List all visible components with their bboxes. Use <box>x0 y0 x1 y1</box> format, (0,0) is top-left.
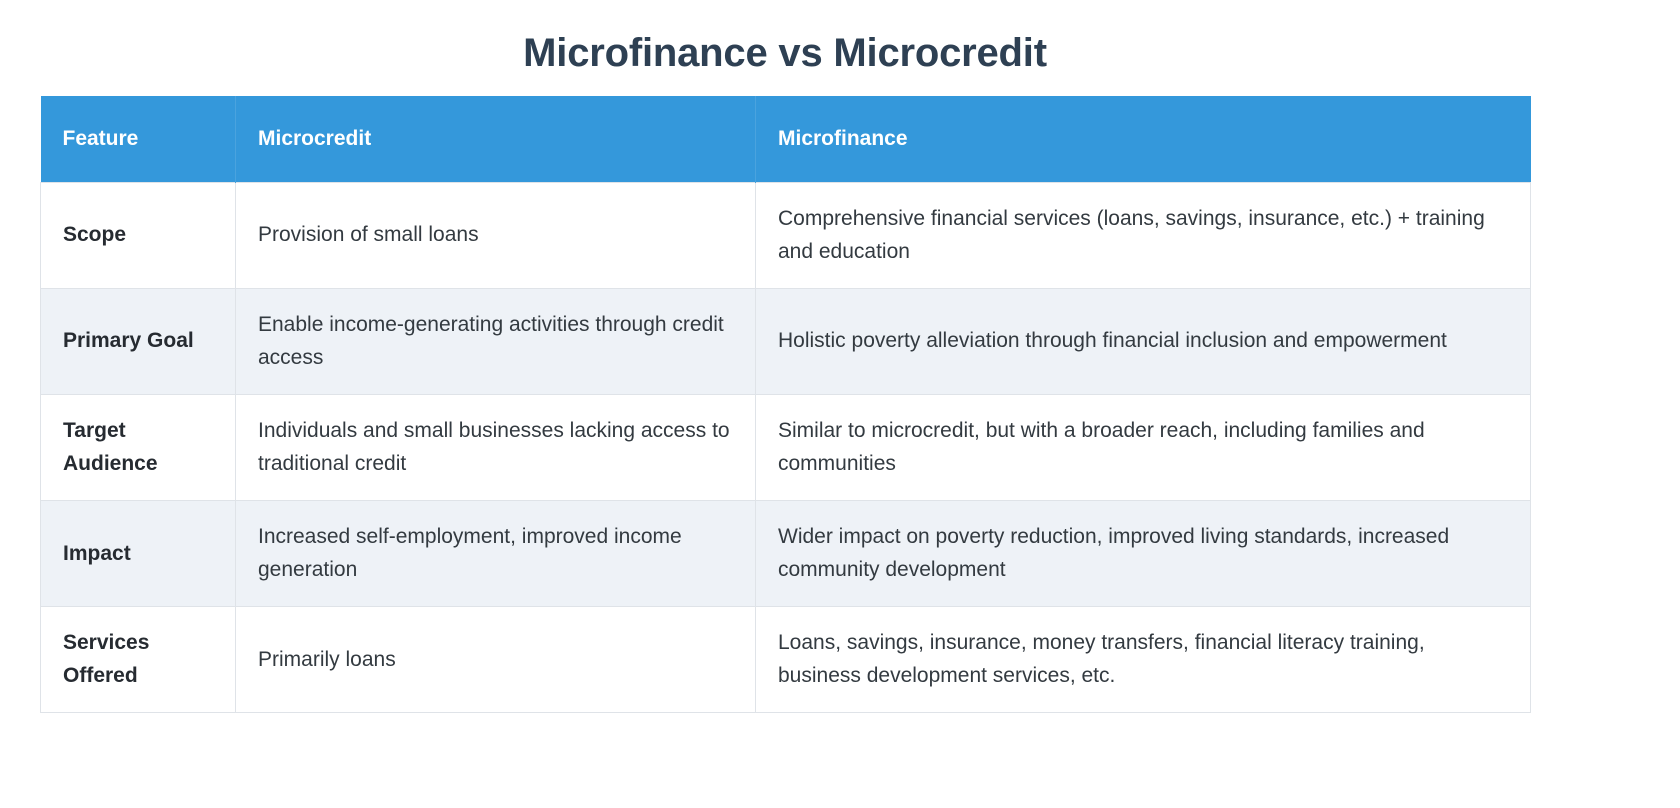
page-title: Microfinance vs Microcredit <box>0 0 1570 78</box>
page-root: Microfinance vs Microcredit Feature Micr… <box>0 0 1680 808</box>
table-row: Target Audience Individuals and small bu… <box>41 395 1531 501</box>
cell-microfinance: Similar to microcredit, but with a broad… <box>756 395 1531 501</box>
cell-microfinance: Comprehensive financial services (loans,… <box>756 183 1531 289</box>
cell-microcredit: Increased self-employment, improved inco… <box>236 501 756 607</box>
column-header-microfinance[interactable]: Microfinance <box>756 96 1531 183</box>
cell-microfinance: Wider impact on poverty reduction, impro… <box>756 501 1531 607</box>
cell-microcredit: Primarily loans <box>236 607 756 713</box>
cell-feature: Primary Goal <box>41 289 236 395</box>
comparison-table-container: Feature Microcredit Microfinance Scope P… <box>40 96 1530 713</box>
cell-feature: Services Offered <box>41 607 236 713</box>
cell-feature: Target Audience <box>41 395 236 501</box>
comparison-table: Feature Microcredit Microfinance Scope P… <box>40 96 1531 713</box>
table-header-row: Feature Microcredit Microfinance <box>41 96 1531 183</box>
table-row: Services Offered Primarily loans Loans, … <box>41 607 1531 713</box>
table-row: Impact Increased self-employment, improv… <box>41 501 1531 607</box>
column-header-microcredit[interactable]: Microcredit <box>236 96 756 183</box>
cell-feature: Impact <box>41 501 236 607</box>
cell-microcredit: Provision of small loans <box>236 183 756 289</box>
cell-feature: Scope <box>41 183 236 289</box>
cell-microcredit: Enable income-generating activities thro… <box>236 289 756 395</box>
table-header: Feature Microcredit Microfinance <box>41 96 1531 183</box>
cell-microfinance: Loans, savings, insurance, money transfe… <box>756 607 1531 713</box>
cell-microcredit: Individuals and small businesses lacking… <box>236 395 756 501</box>
table-row: Primary Goal Enable income-generating ac… <box>41 289 1531 395</box>
cell-microfinance: Holistic poverty alleviation through fin… <box>756 289 1531 395</box>
column-header-feature[interactable]: Feature <box>41 96 236 183</box>
table-body: Scope Provision of small loans Comprehen… <box>41 183 1531 713</box>
table-row: Scope Provision of small loans Comprehen… <box>41 183 1531 289</box>
